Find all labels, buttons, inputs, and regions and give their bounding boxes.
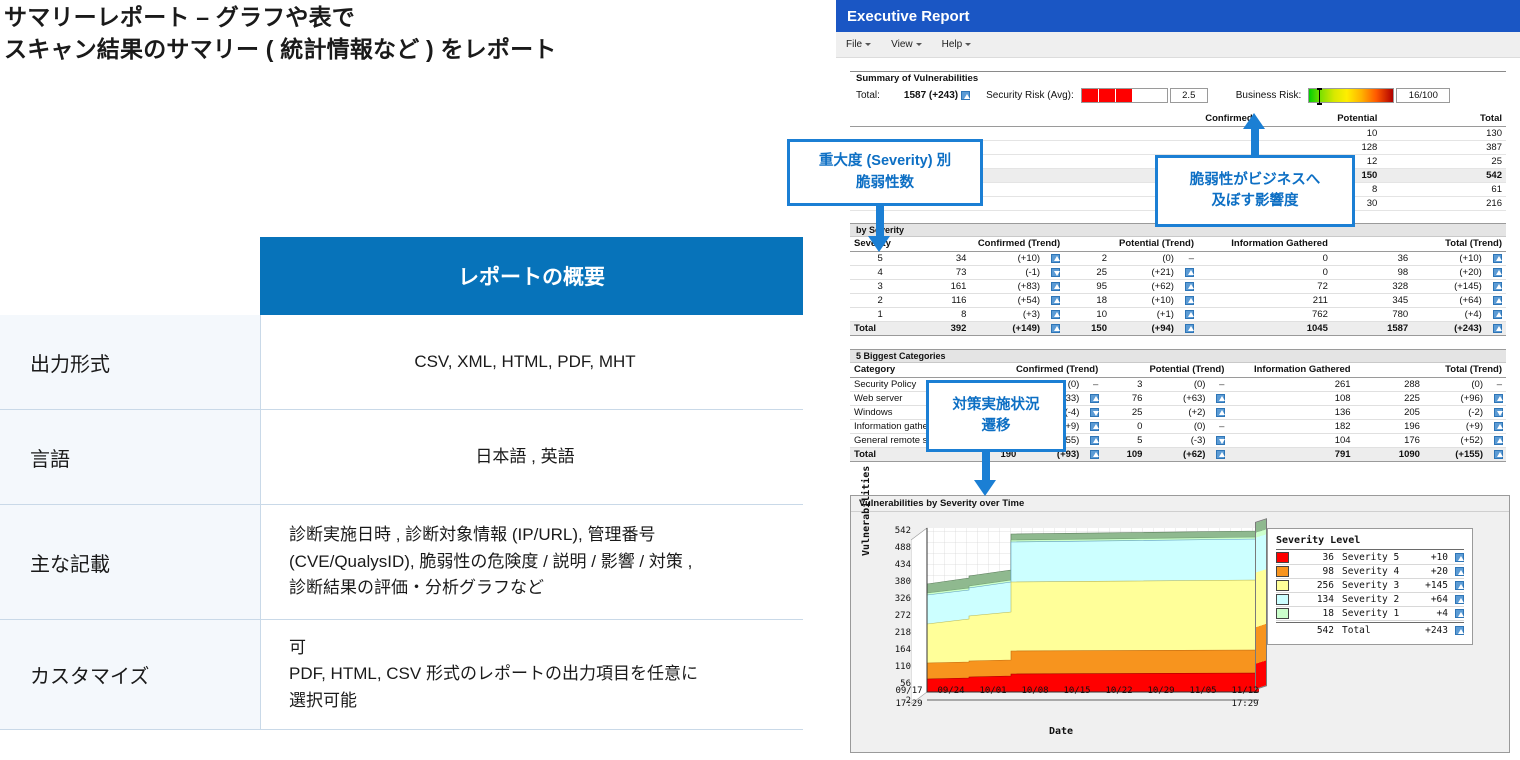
cell-info-gathered: 0 bbox=[1198, 266, 1332, 280]
x-tick: 09/17 bbox=[889, 686, 929, 696]
legend-total-delta: +243 bbox=[1412, 625, 1448, 636]
legend-count: 18 bbox=[1289, 608, 1338, 619]
legend-count: 256 bbox=[1289, 580, 1338, 591]
cell-confirmed: 116 bbox=[910, 294, 970, 308]
cell-potential: 128 bbox=[1257, 141, 1382, 155]
cell-confirmed-trend: (+54) bbox=[970, 294, 1044, 308]
summary-section-label: Summary of Vulnerabilities bbox=[850, 71, 1506, 85]
col-total-trend: Total (Trend) bbox=[1355, 363, 1506, 378]
trend-flat-icon: – bbox=[1209, 420, 1228, 434]
legend-swatch-sev2 bbox=[1276, 594, 1289, 605]
cell-total-trend: (+4) bbox=[1412, 308, 1486, 322]
trend-up-icon bbox=[1209, 392, 1228, 406]
cell-potential-trend: (0) bbox=[1146, 378, 1209, 392]
trend-up-icon bbox=[1178, 308, 1198, 322]
x-tick-end-time: 17:29 bbox=[1225, 699, 1265, 709]
cell-potential: 25 bbox=[1064, 266, 1111, 280]
legend-item: 18 Severity 1 +4 bbox=[1276, 607, 1464, 621]
y-tick: 380 bbox=[877, 577, 911, 587]
row-value-language: 日本語 , 英語 bbox=[260, 410, 803, 505]
cell-total: 1587 bbox=[1332, 322, 1412, 336]
col-total-trend: Total (Trend) bbox=[1332, 237, 1506, 252]
trend-up-icon bbox=[1487, 448, 1506, 462]
trend-up-icon bbox=[1083, 448, 1102, 462]
y-tick: 488 bbox=[877, 543, 911, 553]
trend-up-icon bbox=[1448, 608, 1464, 619]
cell-potential-trend: (-3) bbox=[1146, 434, 1209, 448]
cell-confirmed bbox=[1086, 141, 1257, 155]
col-confirmed-trend: Confirmed (Trend) bbox=[910, 237, 1064, 252]
chart-x-axis-label: Date bbox=[1049, 726, 1073, 737]
legend-label: Severity 4 bbox=[1338, 566, 1412, 577]
trend-up-icon bbox=[1448, 625, 1464, 636]
cell-potential: 3 bbox=[1102, 378, 1146, 392]
cell-confirmed: 34 bbox=[910, 252, 970, 266]
y-tick: 218 bbox=[877, 628, 911, 638]
menu-help-label: Help bbox=[942, 39, 963, 50]
cell-total: 205 bbox=[1355, 406, 1424, 420]
table-header-row: レポートの概要 bbox=[0, 237, 803, 315]
legend-delta: +10 bbox=[1412, 552, 1448, 563]
chart-y-axis-label: Vulnerabilities bbox=[861, 466, 872, 556]
legend-swatch-sev4 bbox=[1276, 566, 1289, 577]
trend-up-icon bbox=[1178, 322, 1198, 336]
menu-view-label: View bbox=[891, 39, 913, 50]
cell-total-trend: (+64) bbox=[1412, 294, 1486, 308]
business-risk-gradient bbox=[1308, 88, 1394, 103]
callout-severity-count: 重大度 (Severity) 別 脆弱性数 bbox=[787, 139, 983, 206]
legend-delta: +20 bbox=[1412, 566, 1448, 577]
col-total: Total bbox=[1381, 112, 1506, 127]
row-key-language: 言語 bbox=[0, 410, 260, 505]
trend-up-icon bbox=[1486, 322, 1506, 336]
x-tick: 10/29 bbox=[1141, 686, 1181, 696]
cell-potential-trend: (+62) bbox=[1111, 280, 1178, 294]
chevron-down-icon bbox=[965, 43, 971, 46]
cell-info-gathered: 104 bbox=[1228, 434, 1354, 448]
cell-severity: 3 bbox=[850, 280, 910, 294]
cell-total: 780 bbox=[1332, 308, 1412, 322]
legend-delta: +145 bbox=[1412, 580, 1448, 591]
cell-potential: 10 bbox=[1257, 127, 1382, 141]
cell-info-gathered: 791 bbox=[1228, 448, 1354, 462]
x-tick: 10/01 bbox=[973, 686, 1013, 696]
cell-total: 345 bbox=[1332, 294, 1412, 308]
legend-delta: +64 bbox=[1412, 594, 1448, 605]
trend-up-icon bbox=[1486, 294, 1506, 308]
trend-up-icon bbox=[1487, 392, 1506, 406]
trend-up-icon bbox=[1083, 434, 1102, 448]
cell-info-gathered: 211 bbox=[1198, 294, 1332, 308]
legend-label: Severity 3 bbox=[1338, 580, 1412, 591]
by-severity-table: Severity Confirmed (Trend) Potential (Tr… bbox=[850, 237, 1506, 336]
cell-total-trend: (0) bbox=[1424, 378, 1487, 392]
cell-potential: 150 bbox=[1064, 322, 1111, 336]
row-key-main-contents: 主な記載 bbox=[0, 505, 260, 620]
total-value: 1587 (+243) bbox=[904, 90, 958, 101]
legend-swatch-sev3 bbox=[1276, 580, 1289, 591]
y-tick: 326 bbox=[877, 594, 911, 604]
business-risk-marker bbox=[1319, 88, 1320, 105]
cell-confirmed-trend: (+149) bbox=[970, 322, 1044, 336]
trend-down-icon bbox=[1487, 406, 1506, 420]
security-risk-meter bbox=[1081, 88, 1168, 103]
trend-flat-icon: – bbox=[1083, 378, 1102, 392]
trend-up-icon bbox=[1448, 580, 1464, 591]
table-row: 4 73 (-1) 25 (+21) 0 98 (+20) bbox=[850, 266, 1506, 280]
x-tick: 11/12 bbox=[1225, 686, 1265, 696]
trend-up-icon bbox=[1487, 434, 1506, 448]
row-key-output-format: 出力形式 bbox=[0, 315, 260, 410]
cell-total-trend: (+96) bbox=[1424, 392, 1487, 406]
x-tick: 10/22 bbox=[1099, 686, 1139, 696]
cell-confirmed-trend: (+10) bbox=[970, 252, 1044, 266]
biggest-categories-section-label: 5 Biggest Categories bbox=[850, 349, 1506, 363]
table-row: 2 116 (+54) 18 (+10) 211 345 (+64) bbox=[850, 294, 1506, 308]
trend-up-icon bbox=[1209, 448, 1228, 462]
trend-up-icon bbox=[1486, 308, 1506, 322]
col-confirmed: Confirmed bbox=[1086, 112, 1257, 127]
legend-item: 134 Severity 2 +64 bbox=[1276, 593, 1464, 607]
legend-count: 98 bbox=[1289, 566, 1338, 577]
vulnerabilities-over-time-chart: Vulnerabilities by Severity over Time Vu… bbox=[850, 495, 1510, 753]
menu-view[interactable]: View bbox=[891, 39, 922, 50]
trend-up-icon bbox=[1486, 266, 1506, 280]
trend-flat-icon: – bbox=[1487, 378, 1506, 392]
trend-up-icon bbox=[1178, 280, 1198, 294]
callout-business-risk: 脆弱性がビジネスへ 及ぼす影響度 bbox=[1155, 155, 1355, 227]
table-header-row: Severity Confirmed (Trend) Potential (Tr… bbox=[850, 237, 1506, 252]
cell-potential-trend: (+63) bbox=[1146, 392, 1209, 406]
cell-confirmed-trend: (+3) bbox=[970, 308, 1044, 322]
window-title: Executive Report bbox=[847, 8, 970, 25]
legend-title: Severity Level bbox=[1276, 535, 1464, 550]
row-key-customize: カスタマイズ bbox=[0, 620, 260, 730]
cell-potential-trend: (0) bbox=[1111, 252, 1178, 266]
cell-potential-trend: (+10) bbox=[1111, 294, 1178, 308]
trend-up-icon bbox=[1486, 252, 1506, 266]
table-row: 言語 日本語 , 英語 bbox=[0, 410, 803, 505]
table-row: 1 8 (+3) 10 (+1) 762 780 (+4) bbox=[850, 308, 1506, 322]
cell-total-trend: (+145) bbox=[1412, 280, 1486, 294]
cell-info-gathered: 1045 bbox=[1198, 322, 1332, 336]
trend-up-icon bbox=[1448, 594, 1464, 605]
cell-total: 225 bbox=[1355, 392, 1424, 406]
cell-total-trend: (+155) bbox=[1424, 448, 1487, 462]
total-label: Total: bbox=[856, 90, 880, 101]
cell-total-trend: (+52) bbox=[1424, 434, 1487, 448]
chart-legend: Severity Level 36 Severity 5 +10 98 Seve… bbox=[1267, 528, 1473, 645]
chart-area: Vulnerabilities 2 56 110 164 218 272 326… bbox=[859, 518, 1501, 743]
trend-up-icon bbox=[1448, 566, 1464, 577]
summary-metrics-row: Total: 1587 (+243) Security Risk (Avg): … bbox=[850, 85, 1506, 106]
cell-total: 542 bbox=[1381, 169, 1506, 183]
cell-potential-trend: (0) bbox=[1146, 420, 1209, 434]
cell-total: 196 bbox=[1355, 420, 1424, 434]
legend-total-count: 542 bbox=[1289, 625, 1338, 636]
legend-total-row: 542 Total +243 bbox=[1276, 622, 1464, 636]
trend-up-icon bbox=[1178, 294, 1198, 308]
cell-info-gathered: 261 bbox=[1228, 378, 1354, 392]
chart-plot bbox=[911, 520, 1259, 705]
cell-total: 130 bbox=[1381, 127, 1506, 141]
legend-swatch-blank bbox=[1276, 625, 1289, 636]
x-tick-start-time: 17:29 bbox=[889, 699, 929, 709]
table-header-label: レポートの概要 bbox=[260, 237, 803, 315]
cell-potential: 25 bbox=[1102, 406, 1146, 420]
trend-up-icon bbox=[1487, 420, 1506, 434]
by-severity-section: by Severity Severity Confirmed (Trend) P… bbox=[850, 223, 1506, 336]
risk-cell-3 bbox=[1116, 89, 1133, 102]
legend-swatch-sev5 bbox=[1276, 552, 1289, 563]
cell-severity: 4 bbox=[850, 266, 910, 280]
window-titlebar: Executive Report bbox=[836, 0, 1520, 32]
trend-up-icon bbox=[1486, 280, 1506, 294]
legend-count: 134 bbox=[1289, 594, 1338, 605]
cell-confirmed: 161 bbox=[910, 280, 970, 294]
table-row-total: Total 392 (+149) 150 (+94) 1045 1587 (+2… bbox=[850, 322, 1506, 336]
cell-confirmed bbox=[1086, 127, 1257, 141]
x-tick: 09/24 bbox=[931, 686, 971, 696]
chart-3d-side-face bbox=[1255, 518, 1267, 690]
table-row: 主な記載 診断実施日時 , 診断対象情報 (IP/URL), 管理番号 (CVE… bbox=[0, 505, 803, 620]
col-category: Category bbox=[850, 363, 976, 378]
cell-total: 288 bbox=[1355, 378, 1424, 392]
row-value-output-format: CSV, XML, HTML, PDF, MHT bbox=[260, 315, 803, 410]
cell-potential: 0 bbox=[1102, 420, 1146, 434]
trend-up-icon bbox=[1448, 552, 1464, 563]
chart-title: Vulnerabilities by Severity over Time bbox=[851, 496, 1509, 512]
menu-file[interactable]: File bbox=[846, 39, 871, 50]
x-tick: 10/15 bbox=[1057, 686, 1097, 696]
business-risk-label: Business Risk: bbox=[1236, 90, 1302, 101]
cell-total-label: Total bbox=[850, 322, 910, 336]
table-header-row: Category Confirmed (Trend) Potential (Tr… bbox=[850, 363, 1506, 378]
cell-total: 328 bbox=[1332, 280, 1412, 294]
menubar: File View Help bbox=[836, 32, 1520, 58]
row-value-main-contents: 診断実施日時 , 診断対象情報 (IP/URL), 管理番号 (CVE/Qual… bbox=[260, 505, 803, 620]
trend-flat-icon: – bbox=[1178, 252, 1198, 266]
cell-total: 36 bbox=[1332, 252, 1412, 266]
x-tick: 11/05 bbox=[1183, 686, 1223, 696]
menu-help[interactable]: Help bbox=[942, 39, 972, 50]
business-risk-value: 16/100 bbox=[1396, 88, 1450, 103]
cell-confirmed: 8 bbox=[910, 308, 970, 322]
trend-up-icon bbox=[1209, 406, 1228, 420]
cell-severity: 5 bbox=[850, 252, 910, 266]
cell-potential-trend: (+21) bbox=[1111, 266, 1178, 280]
chart-y-ticks: 2 56 110 164 218 272 326 380 434 488 542 bbox=[873, 518, 911, 713]
cell-confirmed: 73 bbox=[910, 266, 970, 280]
cell-potential: 10 bbox=[1064, 308, 1111, 322]
security-risk-value: 2.5 bbox=[1170, 88, 1208, 103]
y-tick: 110 bbox=[877, 662, 911, 672]
y-tick: 164 bbox=[877, 645, 911, 655]
x-tick: 10/08 bbox=[1015, 686, 1055, 696]
table-row: 5 34 (+10) 2 (0) – 0 36 (+10) bbox=[850, 252, 1506, 266]
cell-total-trend: (-2) bbox=[1424, 406, 1487, 420]
col-information-gathered: Information Gathered bbox=[1198, 237, 1332, 252]
chevron-down-icon bbox=[916, 43, 922, 46]
cell-total: 98 bbox=[1332, 266, 1412, 280]
legend-total-label: Total bbox=[1338, 625, 1412, 636]
report-spec-table: レポートの概要 出力形式 CSV, XML, HTML, PDF, MHT 言語… bbox=[0, 237, 803, 730]
trend-up-icon bbox=[1044, 322, 1064, 336]
cell-info-gathered: 762 bbox=[1198, 308, 1332, 322]
legend-label: Severity 5 bbox=[1338, 552, 1412, 563]
callout-remediation-trend: 対策実施状況 遷移 bbox=[926, 380, 1066, 452]
cell-info-gathered: 182 bbox=[1228, 420, 1354, 434]
legend-item: 256 Severity 3 +145 bbox=[1276, 579, 1464, 593]
cell-info-gathered: 108 bbox=[1228, 392, 1354, 406]
cell-severity: 2 bbox=[850, 294, 910, 308]
table-row: 3 161 (+83) 95 (+62) 72 328 (+145) bbox=[850, 280, 1506, 294]
cell-confirmed-trend: (+83) bbox=[970, 280, 1044, 294]
legend-delta: +4 bbox=[1412, 608, 1448, 619]
cell-confirmed-trend: (-1) bbox=[970, 266, 1044, 280]
trend-flat-icon: – bbox=[1209, 378, 1228, 392]
table-header-blank-cell bbox=[0, 237, 260, 315]
menu-file-label: File bbox=[846, 39, 862, 50]
cell-info-gathered: 0 bbox=[1198, 252, 1332, 266]
col-potential-trend: Potential (Trend) bbox=[1102, 363, 1228, 378]
col-information-gathered: Information Gathered bbox=[1228, 363, 1354, 378]
table-row: カスタマイズ 可 PDF, HTML, CSV 形式のレポートの出力項目を任意に… bbox=[0, 620, 803, 730]
col-blank bbox=[850, 112, 1086, 127]
cell-potential: 76 bbox=[1102, 392, 1146, 406]
legend-item: 36 Severity 5 +10 bbox=[1276, 551, 1464, 565]
cell-total-trend: (+20) bbox=[1412, 266, 1486, 280]
cell-potential-trend: (+2) bbox=[1146, 406, 1209, 420]
cell-info-gathered: 72 bbox=[1198, 280, 1332, 294]
y-tick: 542 bbox=[877, 526, 911, 536]
cell-total: 176 bbox=[1355, 434, 1424, 448]
legend-label: Severity 2 bbox=[1338, 594, 1412, 605]
chart-x-ticks: 09/17 17:29 09/24 10/01 10/08 10/15 10/2… bbox=[911, 686, 1263, 726]
legend-label: Severity 1 bbox=[1338, 608, 1412, 619]
legend-swatch-sev1 bbox=[1276, 608, 1289, 619]
trend-down-icon bbox=[1044, 266, 1064, 280]
trend-up-icon bbox=[1044, 280, 1064, 294]
callout-arrow-remediation-trend bbox=[974, 448, 998, 498]
cell-confirmed: 392 bbox=[910, 322, 970, 336]
cell-potential: 95 bbox=[1064, 280, 1111, 294]
cell-info-gathered: 136 bbox=[1228, 406, 1354, 420]
trend-up-icon bbox=[1044, 252, 1064, 266]
table-header-row: Confirmed Potential Total bbox=[850, 112, 1506, 127]
cell-total-trend: (+243) bbox=[1412, 322, 1486, 336]
trend-down-icon bbox=[1209, 434, 1228, 448]
trend-up-icon bbox=[961, 91, 970, 100]
cell-potential: 109 bbox=[1102, 448, 1146, 462]
cell-potential-trend: (+1) bbox=[1111, 308, 1178, 322]
cell-potential-trend: (+62) bbox=[1146, 448, 1209, 462]
cell-potential: 2 bbox=[1064, 252, 1111, 266]
cell-potential-trend: (+94) bbox=[1111, 322, 1178, 336]
risk-cell-5 bbox=[1150, 89, 1167, 102]
cell-total: 1090 bbox=[1355, 448, 1424, 462]
cell-total-trend: (+10) bbox=[1412, 252, 1486, 266]
risk-cell-1 bbox=[1082, 89, 1099, 102]
cell-potential: 5 bbox=[1102, 434, 1146, 448]
col-potential: Potential bbox=[1257, 112, 1382, 127]
risk-cell-4 bbox=[1133, 89, 1150, 102]
callout-arrow-severity bbox=[868, 202, 892, 252]
cell-total: 387 bbox=[1381, 141, 1506, 155]
row-value-customize: 可 PDF, HTML, CSV 形式のレポートの出力項目を任意に 選択可能 bbox=[260, 620, 803, 730]
cell-total: 61 bbox=[1381, 183, 1506, 197]
legend-count: 36 bbox=[1289, 552, 1338, 563]
y-tick: 434 bbox=[877, 560, 911, 570]
trend-up-icon bbox=[1044, 308, 1064, 322]
chevron-down-icon bbox=[865, 43, 871, 46]
cell-severity: 1 bbox=[850, 308, 910, 322]
risk-cell-2 bbox=[1099, 89, 1116, 102]
legend-item: 98 Severity 4 +20 bbox=[1276, 565, 1464, 579]
trend-up-icon bbox=[1083, 392, 1102, 406]
table-row: 出力形式 CSV, XML, HTML, PDF, MHT bbox=[0, 315, 803, 410]
summary-of-vulnerabilities-section: Summary of Vulnerabilities Total: 1587 (… bbox=[850, 71, 1506, 106]
cell-potential: 18 bbox=[1064, 294, 1111, 308]
page-title: サマリーレポート – グラフや表で スキャン結果のサマリー ( 統計情報など )… bbox=[4, 2, 804, 65]
callout-arrow-business-risk bbox=[1243, 113, 1267, 159]
security-risk-label: Security Risk (Avg): bbox=[986, 90, 1074, 101]
col-confirmed-trend: Confirmed (Trend) bbox=[976, 363, 1102, 378]
cell-total: 216 bbox=[1381, 197, 1506, 211]
col-potential-trend: Potential (Trend) bbox=[1064, 237, 1198, 252]
trend-up-icon bbox=[1044, 294, 1064, 308]
trend-up-icon bbox=[1083, 420, 1102, 434]
cell-total-trend: (+9) bbox=[1424, 420, 1487, 434]
y-tick: 272 bbox=[877, 611, 911, 621]
cell-total: 25 bbox=[1381, 155, 1506, 169]
trend-up-icon bbox=[1178, 266, 1198, 280]
trend-down-icon bbox=[1083, 406, 1102, 420]
